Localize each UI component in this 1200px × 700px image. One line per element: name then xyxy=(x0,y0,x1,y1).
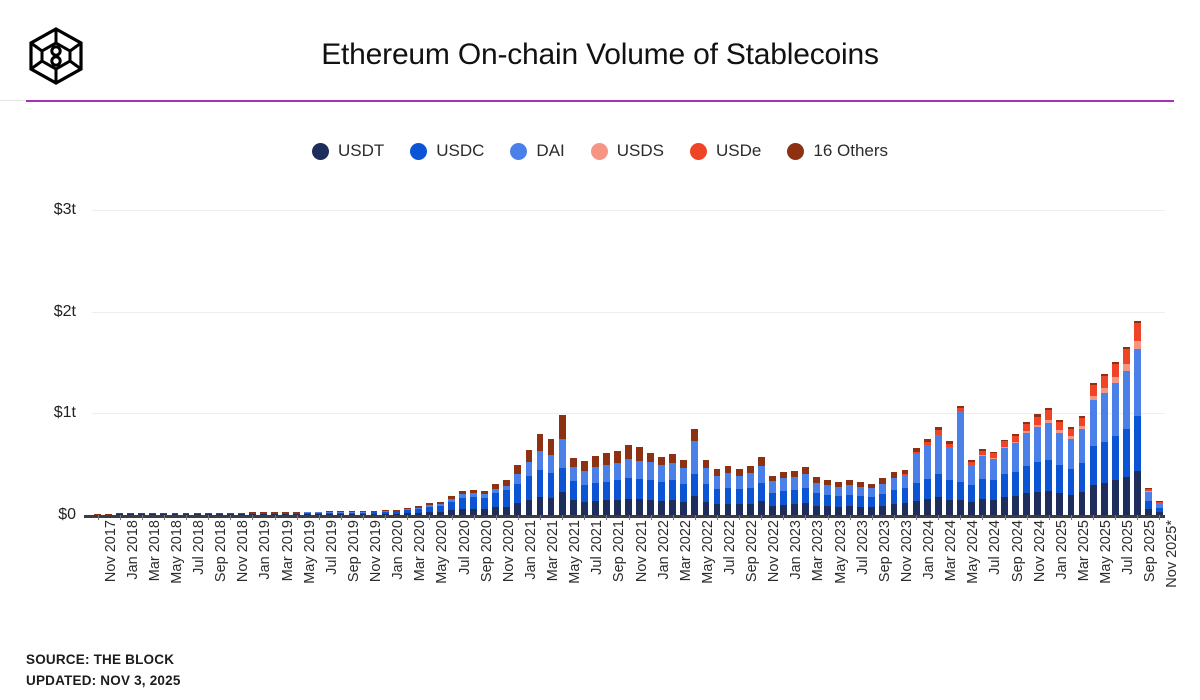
updated-line: UPDATED: NOV 3, 2025 xyxy=(26,671,181,692)
bar-column[interactable] xyxy=(802,467,809,515)
bar-segment-usdc xyxy=(459,498,466,509)
bar-segment-dai xyxy=(913,454,920,482)
legend-item-usdt[interactable]: USDT xyxy=(312,141,384,161)
bar-segment-usdt xyxy=(669,500,676,515)
bar-segment-dai xyxy=(979,456,986,479)
bar-segment-dai xyxy=(1012,443,1019,471)
bar-segment-usdc xyxy=(802,488,809,504)
legend-swatch-icon xyxy=(510,143,527,160)
x-axis-tick xyxy=(960,515,961,520)
legend-label: USDe xyxy=(716,141,761,161)
bar-segment-usdt xyxy=(1034,492,1041,515)
x-axis-tick-label: Nov 2021 xyxy=(634,520,650,582)
y-axis-tick-label: $2t xyxy=(54,303,76,321)
legend-item-16-others[interactable]: 16 Others xyxy=(787,141,888,161)
bar-segment-usdc xyxy=(647,480,654,500)
x-axis-tick-label: May 2024 xyxy=(965,520,981,584)
bar-segment-dai xyxy=(758,466,765,483)
bar-column[interactable] xyxy=(1145,488,1152,515)
x-axis-tick-label: May 2018 xyxy=(169,520,185,584)
x-axis-tick xyxy=(828,515,829,520)
bar-segment-dai xyxy=(769,481,776,492)
x-axis-tick xyxy=(252,515,253,520)
bar-column[interactable] xyxy=(1034,414,1041,515)
bar-segment-dai xyxy=(868,488,875,497)
y-axis-labels: $0$1t$2t$3t xyxy=(0,190,92,516)
bar-segment-usdt xyxy=(990,500,997,515)
bar-segment-dai xyxy=(957,411,964,481)
bar-segment-usdc xyxy=(691,474,698,496)
header-divider xyxy=(26,100,1174,102)
bar-segment-16-others xyxy=(714,469,721,476)
x-axis-tick-label: Mar 2024 xyxy=(943,520,959,581)
bar-segment-usdc xyxy=(924,479,931,499)
x-axis-labels: Nov 2017Jan 2018Mar 2018May 2018Jul 2018… xyxy=(92,520,1165,630)
x-axis-tick xyxy=(429,515,430,520)
bar-segment-usdt xyxy=(1045,491,1052,515)
bar-segment-usde xyxy=(1123,349,1130,364)
bar-column[interactable] xyxy=(691,429,698,515)
bar-segment-dai xyxy=(1090,400,1097,446)
bar-segment-usdt xyxy=(1134,471,1141,515)
bar-column[interactable] xyxy=(758,457,765,515)
bar-column[interactable] xyxy=(415,506,422,515)
bar-segment-16-others xyxy=(592,456,599,468)
x-axis-tick xyxy=(385,515,386,520)
bar-segment-dai xyxy=(570,467,577,482)
bar-segment-usdc xyxy=(581,485,588,502)
bar-segment-usdt xyxy=(691,496,698,515)
bar-segment-dai xyxy=(1034,427,1041,462)
x-axis-tick xyxy=(319,515,320,520)
bar-segment-usdc xyxy=(1101,442,1108,483)
bar-column[interactable] xyxy=(968,460,975,515)
bar-segment-dai xyxy=(703,468,710,484)
bar-segment-usdt xyxy=(846,506,853,515)
bar-segment-16-others xyxy=(636,447,643,460)
bar-segment-dai xyxy=(879,484,886,494)
x-axis-tick-label: Nov 2018 xyxy=(235,520,251,582)
bar-segment-16-others xyxy=(736,469,743,476)
bar-segment-usdt xyxy=(1101,483,1108,516)
x-axis-tick xyxy=(695,515,696,520)
x-axis-tick xyxy=(1159,515,1160,520)
bar-segment-dai xyxy=(846,485,853,495)
x-axis-tick xyxy=(739,515,740,520)
x-axis-tick xyxy=(496,515,497,520)
bar-segment-usdc xyxy=(503,490,510,506)
bar-segment-dai xyxy=(526,462,533,476)
bar-segment-usdc xyxy=(559,468,566,492)
x-axis-tick-label: Jul 2023 xyxy=(855,520,871,575)
bar-column[interactable] xyxy=(736,469,743,515)
x-axis-tick xyxy=(230,515,231,520)
bar-segment-usdt xyxy=(758,501,765,515)
bar-column[interactable] xyxy=(913,448,920,515)
bar-column[interactable] xyxy=(879,478,886,515)
x-axis-tick-label: Nov 2022 xyxy=(766,520,782,582)
bar-segment-16-others xyxy=(548,439,555,455)
bar-segment-usdc xyxy=(968,485,975,502)
bar-column[interactable] xyxy=(404,508,411,515)
bar-segment-usdt xyxy=(537,497,544,515)
bar-segment-usdc xyxy=(846,495,853,507)
bar-segment-usdt xyxy=(658,501,665,515)
bar-column[interactable] xyxy=(459,491,466,515)
bar-column[interactable] xyxy=(780,472,787,515)
x-axis-tick-label: Sep 2022 xyxy=(744,520,760,582)
x-axis-tick-label: Jan 2020 xyxy=(390,520,406,580)
bar-column[interactable] xyxy=(1090,383,1097,515)
bar-column[interactable] xyxy=(492,484,499,515)
bar-segment-usdt xyxy=(769,506,776,515)
x-axis-tick-label: Jul 2019 xyxy=(324,520,340,575)
bar-column[interactable] xyxy=(891,472,898,515)
bar-segment-usdt xyxy=(957,500,964,515)
bar-column[interactable] xyxy=(703,460,710,515)
bar-column[interactable] xyxy=(1123,347,1130,515)
x-axis-tick-label: Nov 2025* xyxy=(1164,520,1180,588)
chart-footer: SOURCE: THE BLOCK UPDATED: NOV 3, 2025 xyxy=(26,650,181,692)
bar-segment-usdc xyxy=(636,479,643,499)
bar-segment-dai xyxy=(935,435,942,475)
bar-segment-usde xyxy=(1056,422,1063,430)
bar-segment-usdc xyxy=(570,481,577,499)
bar-segment-dai xyxy=(1068,439,1075,469)
bar-segment-dai xyxy=(946,447,953,480)
bar-column[interactable] xyxy=(857,482,864,515)
bar-column[interactable] xyxy=(979,449,986,515)
bar-segment-dai xyxy=(835,487,842,496)
x-axis-tick xyxy=(452,515,453,520)
bar-segment-usdc xyxy=(957,482,964,501)
bar-column[interactable] xyxy=(481,491,488,515)
bar-column[interactable] xyxy=(1001,440,1008,515)
legend-item-dai[interactable]: DAI xyxy=(510,141,564,161)
bar-segment-usdt xyxy=(824,506,831,515)
x-axis-tick xyxy=(938,515,939,520)
bar-segment-usdt xyxy=(913,501,920,515)
x-axis-tick-label: May 2022 xyxy=(700,520,716,584)
bar-segment-usdt xyxy=(603,500,610,515)
x-axis-tick-label: Jan 2019 xyxy=(257,520,273,580)
bar-column[interactable] xyxy=(957,406,964,515)
bar-segment-dai xyxy=(603,465,610,482)
bar-segment-usde xyxy=(1034,417,1041,425)
bar-segment-16-others xyxy=(669,454,676,463)
bar-segment-usdc xyxy=(548,473,555,498)
x-axis-tick-label: Nov 2023 xyxy=(899,520,915,582)
bar-segment-usdc xyxy=(824,495,831,507)
bar-column[interactable] xyxy=(426,503,433,515)
bar-segment-usdc xyxy=(813,493,820,506)
bar-segment-usdc xyxy=(769,493,776,506)
legend-swatch-icon xyxy=(787,143,804,160)
bar-segment-dai xyxy=(1001,448,1008,474)
legend-label: 16 Others xyxy=(813,141,888,161)
x-axis-tick xyxy=(98,515,99,520)
bar-column[interactable] xyxy=(747,466,754,515)
bar-segment-usdc xyxy=(780,491,787,505)
bar-series-group xyxy=(92,190,1165,515)
x-axis-tick xyxy=(651,515,652,520)
bar-segment-usdt xyxy=(747,504,754,515)
bar-segment-dai xyxy=(1145,492,1152,501)
bar-segment-dai xyxy=(1123,371,1130,429)
x-axis-tick-label: Sep 2025 xyxy=(1142,520,1158,582)
bar-column[interactable] xyxy=(603,453,610,515)
bar-column[interactable] xyxy=(559,415,566,515)
bar-segment-16-others xyxy=(526,450,533,463)
x-axis-tick xyxy=(1093,515,1094,520)
bar-segment-16-others xyxy=(603,453,610,465)
bar-column[interactable] xyxy=(636,447,643,515)
x-axis-tick-label: Nov 2020 xyxy=(501,520,517,582)
x-axis-tick-label: May 2025 xyxy=(1098,520,1114,584)
bar-segment-dai xyxy=(669,463,676,481)
bar-column[interactable] xyxy=(1134,321,1141,515)
bar-column[interactable] xyxy=(581,461,588,515)
x-axis-tick xyxy=(1071,515,1072,520)
x-axis-tick xyxy=(540,515,541,520)
bar-column[interactable] xyxy=(868,484,875,515)
bar-segment-usdt xyxy=(592,501,599,515)
x-axis-tick xyxy=(916,515,917,520)
bar-segment-16-others xyxy=(725,466,732,473)
bar-segment-usdc xyxy=(526,476,533,499)
bar-column[interactable] xyxy=(725,466,732,515)
x-axis-tick-label: Jan 2025 xyxy=(1054,520,1070,580)
bar-column[interactable] xyxy=(791,471,798,515)
x-axis-tick xyxy=(629,515,630,520)
bar-segment-usdc xyxy=(625,478,632,499)
bar-segment-dai xyxy=(990,459,997,481)
bar-segment-16-others xyxy=(514,465,521,474)
bar-column[interactable] xyxy=(647,453,654,515)
bar-column[interactable] xyxy=(1101,374,1108,515)
x-axis-tick-label: Jul 2018 xyxy=(191,520,207,575)
bar-segment-usdt xyxy=(968,502,975,515)
bar-column[interactable] xyxy=(658,457,665,515)
bar-segment-usdt xyxy=(514,503,521,515)
x-axis-tick xyxy=(474,515,475,520)
bar-column[interactable] xyxy=(714,469,721,515)
bar-column[interactable] xyxy=(503,480,510,515)
bar-segment-usdc xyxy=(703,484,710,502)
bar-segment-16-others xyxy=(614,451,621,464)
x-axis-tick-label: Jan 2022 xyxy=(656,520,672,580)
bar-segment-dai xyxy=(968,465,975,484)
bar-column[interactable] xyxy=(680,460,687,515)
bar-segment-usdc xyxy=(680,484,687,502)
x-axis-tick xyxy=(407,515,408,520)
bar-segment-usdt xyxy=(1023,493,1030,515)
bar-column[interactable] xyxy=(669,454,676,515)
bar-column[interactable] xyxy=(548,439,555,515)
bar-column[interactable] xyxy=(902,470,909,515)
x-axis-tick xyxy=(1137,515,1138,520)
bar-column[interactable] xyxy=(470,490,477,515)
bar-column[interactable] xyxy=(846,480,853,515)
x-axis-tick xyxy=(297,515,298,520)
bar-column[interactable] xyxy=(946,441,953,515)
x-axis-tick xyxy=(982,515,983,520)
bar-segment-usdc xyxy=(913,483,920,501)
bar-column[interactable] xyxy=(614,451,621,515)
bar-segment-usdc xyxy=(592,483,599,501)
bar-column[interactable] xyxy=(1045,408,1052,515)
bar-segment-usdc xyxy=(714,489,721,504)
bar-segment-usdc xyxy=(669,480,676,500)
legend-swatch-icon xyxy=(591,143,608,160)
bar-segment-dai xyxy=(614,463,621,480)
x-axis-tick-label: May 2021 xyxy=(567,520,583,584)
bar-segment-usdt xyxy=(802,503,809,515)
bar-segment-usdc xyxy=(1134,416,1141,471)
bar-segment-usdt xyxy=(791,504,798,515)
bar-segment-usdc xyxy=(1068,469,1075,495)
bar-segment-dai xyxy=(857,487,864,496)
bar-segment-usde xyxy=(1101,376,1108,388)
bar-column[interactable] xyxy=(824,480,831,515)
x-axis-tick-label: Mar 2019 xyxy=(280,520,296,581)
bar-column[interactable] xyxy=(592,456,599,515)
bar-column[interactable] xyxy=(537,434,544,515)
bar-segment-usdc xyxy=(725,488,732,504)
x-axis-tick-label: Jul 2025 xyxy=(1120,520,1136,575)
y-axis-tick-label: $0 xyxy=(58,506,76,524)
bar-segment-16-others xyxy=(581,461,588,471)
bar-column[interactable] xyxy=(570,458,577,515)
bar-column[interactable] xyxy=(1012,434,1019,515)
x-axis-tick-label: Sep 2021 xyxy=(611,520,627,582)
bar-segment-dai xyxy=(647,462,654,480)
bar-segment-usdt xyxy=(636,499,643,515)
bar-column[interactable] xyxy=(1156,501,1163,515)
bar-column[interactable] xyxy=(924,439,931,515)
y-axis-tick-label: $1t xyxy=(54,404,76,422)
bar-segment-usds xyxy=(1134,341,1141,350)
bar-column[interactable] xyxy=(835,482,842,515)
x-axis-tick-label: Nov 2024 xyxy=(1032,520,1048,582)
legend-item-usds[interactable]: USDS xyxy=(591,141,664,161)
bar-segment-usdt xyxy=(1056,493,1063,515)
bar-column[interactable] xyxy=(1023,422,1030,515)
bar-column[interactable] xyxy=(514,465,521,515)
bar-segment-usdt xyxy=(570,500,577,515)
x-axis-tick xyxy=(1027,515,1028,520)
bar-segment-usdc xyxy=(1045,460,1052,491)
bar-segment-usdc xyxy=(514,484,521,503)
bar-segment-dai xyxy=(714,476,721,489)
bar-segment-dai xyxy=(824,485,831,495)
x-axis-tick xyxy=(850,515,851,520)
bar-segment-16-others xyxy=(691,429,698,441)
bar-column[interactable] xyxy=(625,445,632,515)
bar-segment-dai xyxy=(537,451,544,470)
x-axis-tick-label: Nov 2017 xyxy=(103,520,119,582)
bar-column[interactable] xyxy=(769,476,776,515)
bar-segment-dai xyxy=(514,474,521,484)
x-axis-tick xyxy=(805,515,806,520)
bar-segment-usdt xyxy=(1090,485,1097,515)
bar-segment-usde xyxy=(1079,418,1086,426)
bar-column[interactable] xyxy=(437,502,444,515)
bar-segment-dai xyxy=(625,459,632,478)
x-axis-tick xyxy=(872,515,873,520)
x-axis-tick-label: May 2020 xyxy=(434,520,450,584)
bar-segment-usdt xyxy=(725,504,732,515)
plot-area xyxy=(92,190,1165,516)
x-axis-tick-label: May 2023 xyxy=(833,520,849,584)
bar-column[interactable] xyxy=(1112,362,1119,515)
x-axis-tick-label: Jul 2021 xyxy=(589,520,605,575)
bar-segment-usdc xyxy=(747,488,754,504)
bar-segment-dai xyxy=(791,477,798,490)
legend-swatch-icon xyxy=(410,143,427,160)
bar-segment-dai xyxy=(592,467,599,483)
bar-segment-usdt xyxy=(891,504,898,515)
bar-segment-dai xyxy=(636,461,643,479)
x-axis-tick xyxy=(673,515,674,520)
page-title: Ethereum On-chain Volume of Stablecoins xyxy=(0,38,1200,72)
bar-column[interactable] xyxy=(1056,420,1063,515)
bar-segment-usdt xyxy=(946,500,953,515)
x-axis-tick xyxy=(341,515,342,520)
bar-segment-usdt xyxy=(1123,477,1130,515)
bar-segment-usdt xyxy=(614,500,621,515)
legend-label: DAI xyxy=(536,141,564,161)
bar-column[interactable] xyxy=(990,452,997,515)
bar-segment-usdt xyxy=(559,492,566,515)
x-axis-tick xyxy=(606,515,607,520)
x-axis-line xyxy=(84,515,1165,518)
x-axis-tick-label: Mar 2021 xyxy=(545,520,561,581)
bar-column[interactable] xyxy=(935,427,942,515)
bar-segment-usds xyxy=(1123,364,1130,371)
bar-segment-dai xyxy=(802,474,809,488)
x-axis-tick-label: Jan 2018 xyxy=(125,520,141,580)
bar-column[interactable] xyxy=(1068,427,1075,515)
bar-segment-usdc xyxy=(1079,463,1086,492)
bar-segment-usdt xyxy=(1112,480,1119,515)
bar-segment-16-others xyxy=(537,434,544,451)
bar-segment-usdt xyxy=(492,507,499,515)
bar-segment-usdt xyxy=(647,500,654,515)
bar-segment-usdc xyxy=(1090,446,1097,485)
x-axis-tick xyxy=(186,515,187,520)
bar-column[interactable] xyxy=(526,450,533,516)
legend-item-usde[interactable]: USDe xyxy=(690,141,761,161)
bar-segment-dai xyxy=(747,473,754,487)
bar-segment-usdc xyxy=(1112,436,1119,480)
bar-segment-usdc xyxy=(946,480,953,500)
bar-segment-usdc xyxy=(1145,501,1152,509)
chart-header: Ethereum On-chain Volume of Stablecoins xyxy=(0,0,1200,101)
bar-column[interactable] xyxy=(448,496,455,515)
bar-column[interactable] xyxy=(1079,416,1086,515)
legend-item-usdc[interactable]: USDC xyxy=(410,141,484,161)
x-axis-tick-label: Sep 2023 xyxy=(877,520,893,582)
x-axis-tick xyxy=(518,515,519,520)
bar-segment-usde xyxy=(1068,429,1075,436)
x-axis-tick xyxy=(894,515,895,520)
bar-segment-dai xyxy=(559,439,566,467)
x-axis-tick-label: Jul 2022 xyxy=(722,520,738,575)
bar-segment-usdt xyxy=(813,506,820,515)
bar-segment-usdt xyxy=(868,507,875,515)
bar-column[interactable] xyxy=(813,477,820,515)
